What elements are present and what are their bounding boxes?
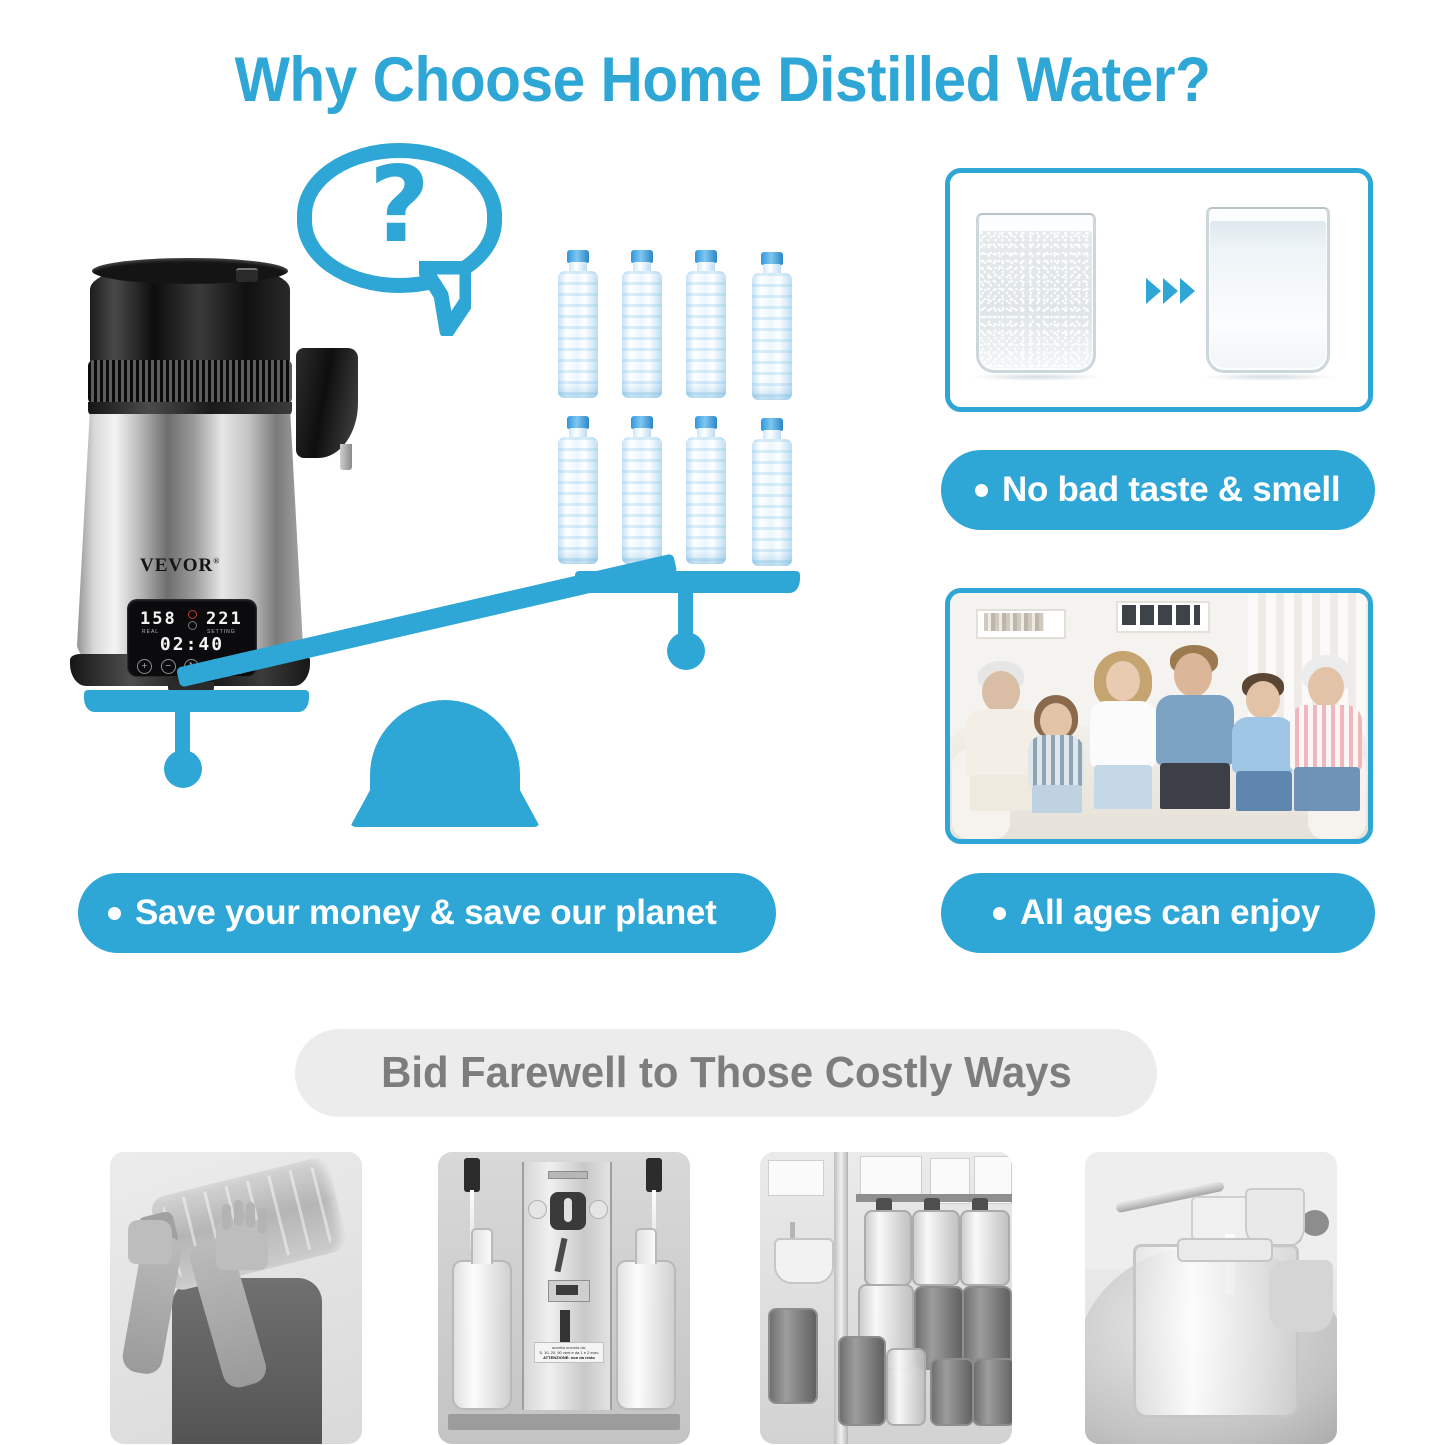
- head: [982, 671, 1020, 713]
- scale-pan-left: [84, 690, 309, 712]
- speech-bubble-tail: [419, 261, 471, 336]
- wall-note: [860, 1156, 922, 1198]
- torso: [1290, 705, 1362, 771]
- legs: [1160, 763, 1230, 809]
- water-jug: [864, 1210, 912, 1286]
- benefit-pill-label: Save your money & save our planet: [135, 893, 716, 933]
- water-jug-full: [838, 1336, 886, 1426]
- water-bottle: [620, 416, 664, 564]
- dispenser-button-left[interactable]: [528, 1200, 547, 1219]
- legs: [1032, 785, 1082, 813]
- dispenser-nozzle-right: [646, 1158, 662, 1192]
- bottle-body: [558, 437, 598, 564]
- coin-dispenser-scene: accetta moneta da: 5, 10, 20, 50 cent e …: [438, 1152, 690, 1444]
- balance-scale-graphic: [70, 560, 810, 830]
- water-bottle: [556, 250, 600, 398]
- water-bottle: [750, 418, 794, 566]
- dispenser-instruction-sign: accetta moneta da: 5, 10, 20, 50 cent e …: [534, 1342, 604, 1363]
- person-grandmother: [1290, 661, 1366, 809]
- head: [1174, 653, 1212, 697]
- water-jug-full: [972, 1358, 1012, 1426]
- glass-bottle-right: [616, 1260, 676, 1410]
- finger: [222, 1204, 231, 1230]
- glass-shadow: [970, 373, 1104, 381]
- bottle-body: [622, 437, 662, 564]
- question-mark-glyph: ?: [297, 153, 502, 258]
- dispenser-button-right[interactable]: [589, 1200, 608, 1219]
- infographic-canvas: Why Choose Home Distilled Water? ? VEVOR…: [0, 0, 1445, 1445]
- water-bottle: [620, 250, 664, 398]
- person-father: [1156, 653, 1236, 809]
- torso: [1090, 701, 1156, 767]
- benefit-pill-money: Save your money & save our planet: [78, 873, 776, 953]
- head: [1246, 681, 1280, 719]
- bullet-dot-icon: [975, 484, 988, 497]
- person-mother: [1088, 657, 1158, 809]
- wall-note: [768, 1160, 824, 1196]
- scale-pan-right: [575, 571, 800, 593]
- bottle-body: [622, 271, 662, 398]
- water-jug-full: [930, 1358, 974, 1426]
- finger: [234, 1200, 243, 1226]
- family-photo: [945, 588, 1373, 844]
- costly-photo-filter-pitcher: [1085, 1152, 1337, 1444]
- dispenser-display-screen: [556, 1285, 578, 1295]
- glass-comparison-scene: [950, 173, 1368, 407]
- benefit-pill-taste: No bad taste & smell: [941, 450, 1375, 530]
- triple-chevron-right-icon: [1146, 278, 1195, 304]
- glass-comparison-photo: [945, 168, 1373, 412]
- torso: [1232, 717, 1294, 773]
- water-bottle: [750, 252, 794, 400]
- dispenser-top-slot: [548, 1171, 588, 1179]
- bottle-body: [752, 439, 792, 566]
- distiller-vent-band: [88, 402, 292, 416]
- coin-slot-icon: [564, 1198, 572, 1222]
- carrying-jug-scene: [110, 1152, 362, 1444]
- distiller-vent-slats: [88, 360, 292, 404]
- scale-pivot-left: [164, 750, 202, 788]
- legs: [1094, 765, 1152, 809]
- clear-water-glass: [1206, 207, 1330, 373]
- costly-ways-banner-label: Bid Farewell to Those Costly Ways: [381, 1048, 1072, 1098]
- bottle-neck-left: [471, 1228, 493, 1264]
- bottle-body: [686, 437, 726, 564]
- water-bottle: [684, 416, 728, 564]
- coin-return-chute: [560, 1310, 570, 1346]
- head: [1308, 667, 1344, 707]
- costly-ways-banner: Bid Farewell to Those Costly Ways: [295, 1029, 1157, 1117]
- finger: [258, 1208, 267, 1234]
- benefit-pill-label: No bad taste & smell: [1002, 470, 1340, 510]
- water-jug-full: [768, 1308, 818, 1404]
- chevron-icon: [1146, 278, 1161, 304]
- family-scene: [950, 593, 1368, 839]
- bottle-body: [686, 271, 726, 398]
- torso: [1156, 695, 1234, 765]
- benefit-pill-label: All ages can enjoy: [1020, 893, 1320, 933]
- water-jug: [912, 1210, 960, 1286]
- legs: [1294, 767, 1360, 811]
- wall-picture-art: [1122, 605, 1200, 625]
- bullet-dot-icon: [108, 907, 121, 920]
- water-bottle: [684, 250, 728, 398]
- chevron-icon: [1180, 278, 1195, 304]
- person-boy: [1232, 675, 1298, 809]
- clear-water-fill: [1210, 221, 1326, 368]
- bullet-dot-icon: [993, 907, 1006, 920]
- distiller-lid-latch: [236, 268, 258, 282]
- bottled-water-group: [556, 250, 806, 575]
- cloudy-water-glass: [976, 213, 1096, 373]
- page-title: Why Choose Home Distilled Water?: [51, 44, 1395, 116]
- dispenser-nozzle-left: [464, 1158, 480, 1192]
- bottle-body: [558, 271, 598, 398]
- bottle-neck-right: [635, 1228, 657, 1264]
- bottle-body: [752, 273, 792, 400]
- distiller-spout: [296, 348, 358, 458]
- person-girl: [1026, 689, 1086, 809]
- man-hand-left: [128, 1220, 172, 1264]
- distiller-lid-top: [92, 258, 288, 284]
- distiller-spout-tip: [340, 444, 352, 470]
- scale-fulcrum-base: [350, 785, 540, 827]
- water-jug: [960, 1210, 1010, 1286]
- books-on-shelf: [984, 613, 1044, 631]
- filter-pitcher-scene: [1085, 1152, 1337, 1444]
- hand-holding-pitcher: [1269, 1260, 1333, 1332]
- chevron-icon: [1163, 278, 1178, 304]
- dispenser-drip-tray: [448, 1414, 680, 1430]
- finger: [246, 1202, 255, 1228]
- pitcher-lid: [1177, 1238, 1273, 1262]
- sign-line-3: ATTENZIONE: non da resto: [537, 1355, 601, 1360]
- legs: [1236, 771, 1292, 811]
- costly-photo-carrying-jug: [110, 1152, 362, 1444]
- torso: [1028, 735, 1084, 787]
- scale-pivot-right: [667, 632, 705, 670]
- cloudy-water-fill: [980, 231, 1092, 368]
- stored-jugs-scene: [760, 1152, 1012, 1444]
- costly-photo-coin-dispenser: accetta moneta da: 5, 10, 20, 50 cent e …: [438, 1152, 690, 1444]
- costly-photo-stored-jugs: [760, 1152, 1012, 1444]
- wall-sink: [774, 1238, 834, 1284]
- water-bottle: [556, 416, 600, 564]
- glass-shadow: [1200, 373, 1338, 381]
- benefit-pill-ages: All ages can enjoy: [941, 873, 1375, 953]
- water-jug: [886, 1348, 926, 1426]
- fruit: [1301, 1210, 1329, 1236]
- glass-bottle-left: [452, 1260, 512, 1410]
